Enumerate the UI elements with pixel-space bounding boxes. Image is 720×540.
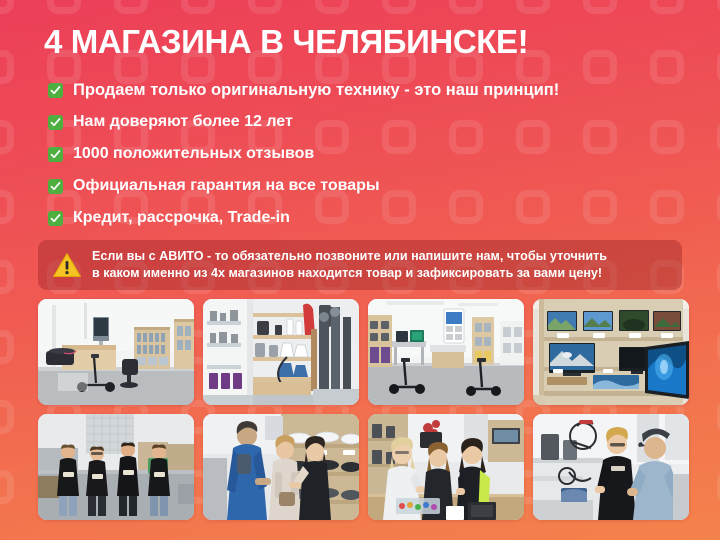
staff-team-photo (38, 414, 194, 520)
pattern-square (650, 0, 684, 14)
photo-row-1 (38, 299, 689, 405)
store-tv-wall-display (533, 299, 689, 405)
store-shelves-vacuums (203, 299, 359, 405)
list-item: Продаем только оригинальную технику - эт… (48, 74, 688, 106)
list-item-label: Официальная гарантия на все товары (73, 176, 380, 196)
warning-triangle-icon (52, 251, 82, 279)
list-item: Официальная гарантия на все товары (48, 170, 688, 202)
pattern-square (0, 0, 14, 14)
staff-helping-customer (533, 414, 689, 520)
list-item-label: Нам доверяют более 12 лет (73, 112, 293, 132)
list-item-label: 1000 положительных отзывов (73, 144, 314, 164)
pattern-square (114, 0, 148, 14)
pattern-square (47, 0, 81, 14)
customers-at-vacuum-shelf (203, 414, 359, 520)
warning-text: Если вы с АВИТО - то обязательно позвони… (92, 248, 607, 282)
store-aisle-scooters-displays (368, 299, 524, 405)
list-item-label: Продаем только оригинальную технику - эт… (73, 80, 559, 100)
store-interior-scooters-counter (38, 299, 194, 405)
pattern-square (0, 120, 14, 154)
check-icon (48, 115, 63, 130)
check-icon (48, 211, 63, 226)
warning-banner: Если вы с АВИТО - то обязательно позвони… (38, 240, 682, 290)
warning-text-line2: в каком именно из 4х магазинов находится… (92, 265, 607, 282)
pattern-square (0, 470, 14, 504)
pattern-square (248, 0, 282, 14)
list-item: 1000 положительных отзывов (48, 138, 688, 170)
pattern-square (0, 50, 14, 84)
pattern-square (0, 260, 14, 294)
list-item-label: Кредит, рассрочка, Trade-in (73, 208, 290, 228)
pattern-square (0, 190, 14, 224)
check-icon (48, 83, 63, 98)
pattern-square (449, 0, 483, 14)
check-icon (48, 147, 63, 162)
list-item: Кредит, рассрочка, Trade-in (48, 202, 688, 234)
pattern-square (516, 0, 550, 14)
advertisement-banner: 4 МАГАЗИНА В ЧЕЛЯБИНСКЕ! Продаем только … (0, 0, 720, 540)
photo-gallery (38, 299, 689, 529)
pattern-square (315, 0, 349, 14)
pattern-square (0, 330, 14, 364)
customers-at-checkout-counter (368, 414, 524, 520)
pattern-square (181, 0, 215, 14)
check-icon (48, 179, 63, 194)
photo-row-2 (38, 414, 689, 520)
page-title: 4 МАГАЗИНА В ЧЕЛЯБИНСКЕ! (44, 22, 684, 62)
feature-list: Продаем только оригинальную технику - эт… (48, 74, 688, 234)
pattern-square (0, 400, 14, 434)
list-item: Нам доверяют более 12 лет (48, 106, 688, 138)
pattern-square (583, 0, 617, 14)
warning-text-line1: Если вы с АВИТО - то обязательно позвони… (92, 248, 607, 265)
pattern-square (382, 0, 416, 14)
